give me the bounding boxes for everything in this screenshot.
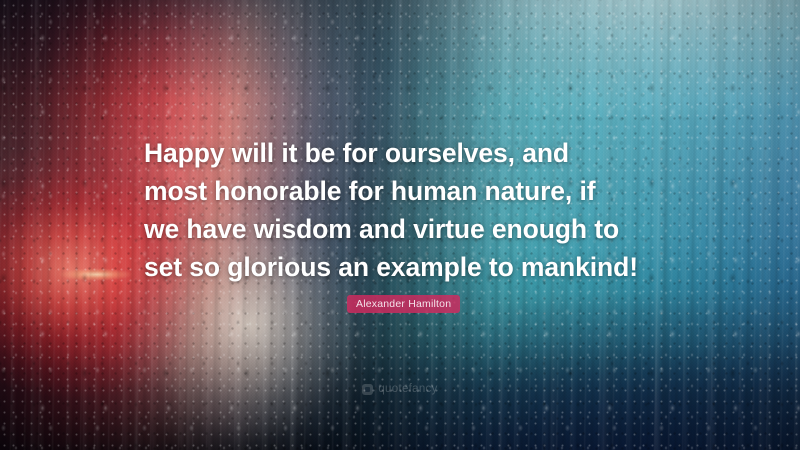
quote-line-2: most honorable for human nature, if [144, 172, 674, 210]
quote-line-3: we have wisdom and virtue enough to [144, 210, 674, 248]
author-attribution-badge[interactable]: Alexander Hamilton [347, 295, 460, 313]
quote-line-4: set so glorious an example to mankind! [144, 248, 674, 286]
quote-text-block: Happy will it be for ourselves, and most… [144, 134, 674, 286]
quote-line-1: Happy will it be for ourselves, and [144, 134, 674, 172]
quote-image-canvas: Happy will it be for ourselves, and most… [0, 0, 800, 450]
content-overlay: Happy will it be for ourselves, and most… [0, 0, 800, 450]
watermark-label: quotefancy [378, 383, 437, 395]
author-name-label: Alexander Hamilton [356, 298, 451, 310]
watermark: quotefancy [0, 383, 800, 395]
quotefancy-logo-icon [362, 384, 373, 395]
